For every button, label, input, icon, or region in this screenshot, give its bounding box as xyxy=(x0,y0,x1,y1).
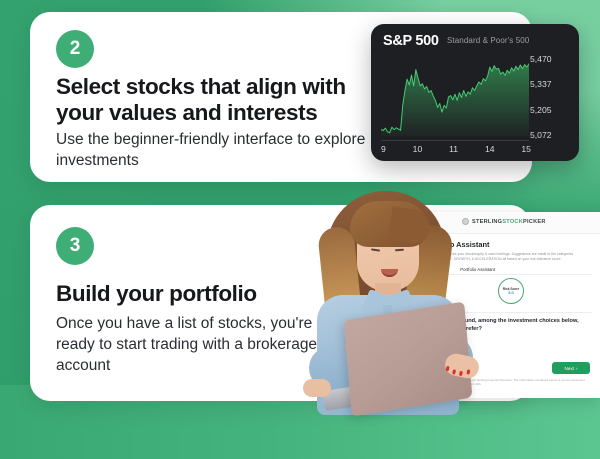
chart-x-axis-labels: 9 10 11 14 15 xyxy=(381,144,531,154)
chart-y-axis-labels: 5,470 5,337 5,205 5,072 xyxy=(530,54,572,140)
x-tick-4: 15 xyxy=(521,144,531,154)
step-number-badge-2: 2 xyxy=(56,30,94,68)
y-tick-3: 5,072 xyxy=(530,130,572,140)
chart-plot-area xyxy=(381,54,529,136)
x-tick-1: 10 xyxy=(413,144,423,154)
fingernail-4 xyxy=(466,369,470,374)
chart-title: S&P 500 xyxy=(383,33,439,49)
person-with-laptop-photo xyxy=(295,183,500,413)
risk-score-value: 5.0 xyxy=(508,291,514,296)
y-tick-0: 5,470 xyxy=(530,54,572,64)
chart-subtitle: Standard & Poor's 500 xyxy=(447,36,529,45)
sp500-chart-card[interactable]: S&P 500 Standard & Poor's 500 5,470 5,33… xyxy=(371,24,579,161)
fingernail-2 xyxy=(452,369,456,374)
hand-left xyxy=(303,379,331,397)
step-number-badge-3: 3 xyxy=(56,227,94,265)
next-button-label: Next xyxy=(565,366,574,371)
step-headline-2: Select stocks that align with your value… xyxy=(56,74,386,126)
next-button[interactable]: Next › xyxy=(552,362,590,374)
x-tick-3: 14 xyxy=(485,144,495,154)
y-tick-2: 5,205 xyxy=(530,105,572,115)
chart-x-axis-line xyxy=(381,140,529,141)
logo-word-picker: PICKER xyxy=(523,219,546,225)
step-subtext-3: Once you have a list of stocks, you're r… xyxy=(56,313,326,376)
fingernail-1 xyxy=(446,366,450,371)
risk-score-badge: Risk Score 5.0 xyxy=(498,278,524,304)
step-subtext-2: Use the beginner-friendly interface to e… xyxy=(56,129,366,171)
fingernail-3 xyxy=(459,371,463,376)
x-tick-0: 9 xyxy=(381,144,386,154)
chart-svg xyxy=(381,54,529,136)
logo-word-stock: STOCK xyxy=(502,219,523,225)
y-tick-1: 5,337 xyxy=(530,79,572,89)
chevron-right-icon: › xyxy=(576,366,578,371)
x-tick-2: 11 xyxy=(449,144,458,154)
